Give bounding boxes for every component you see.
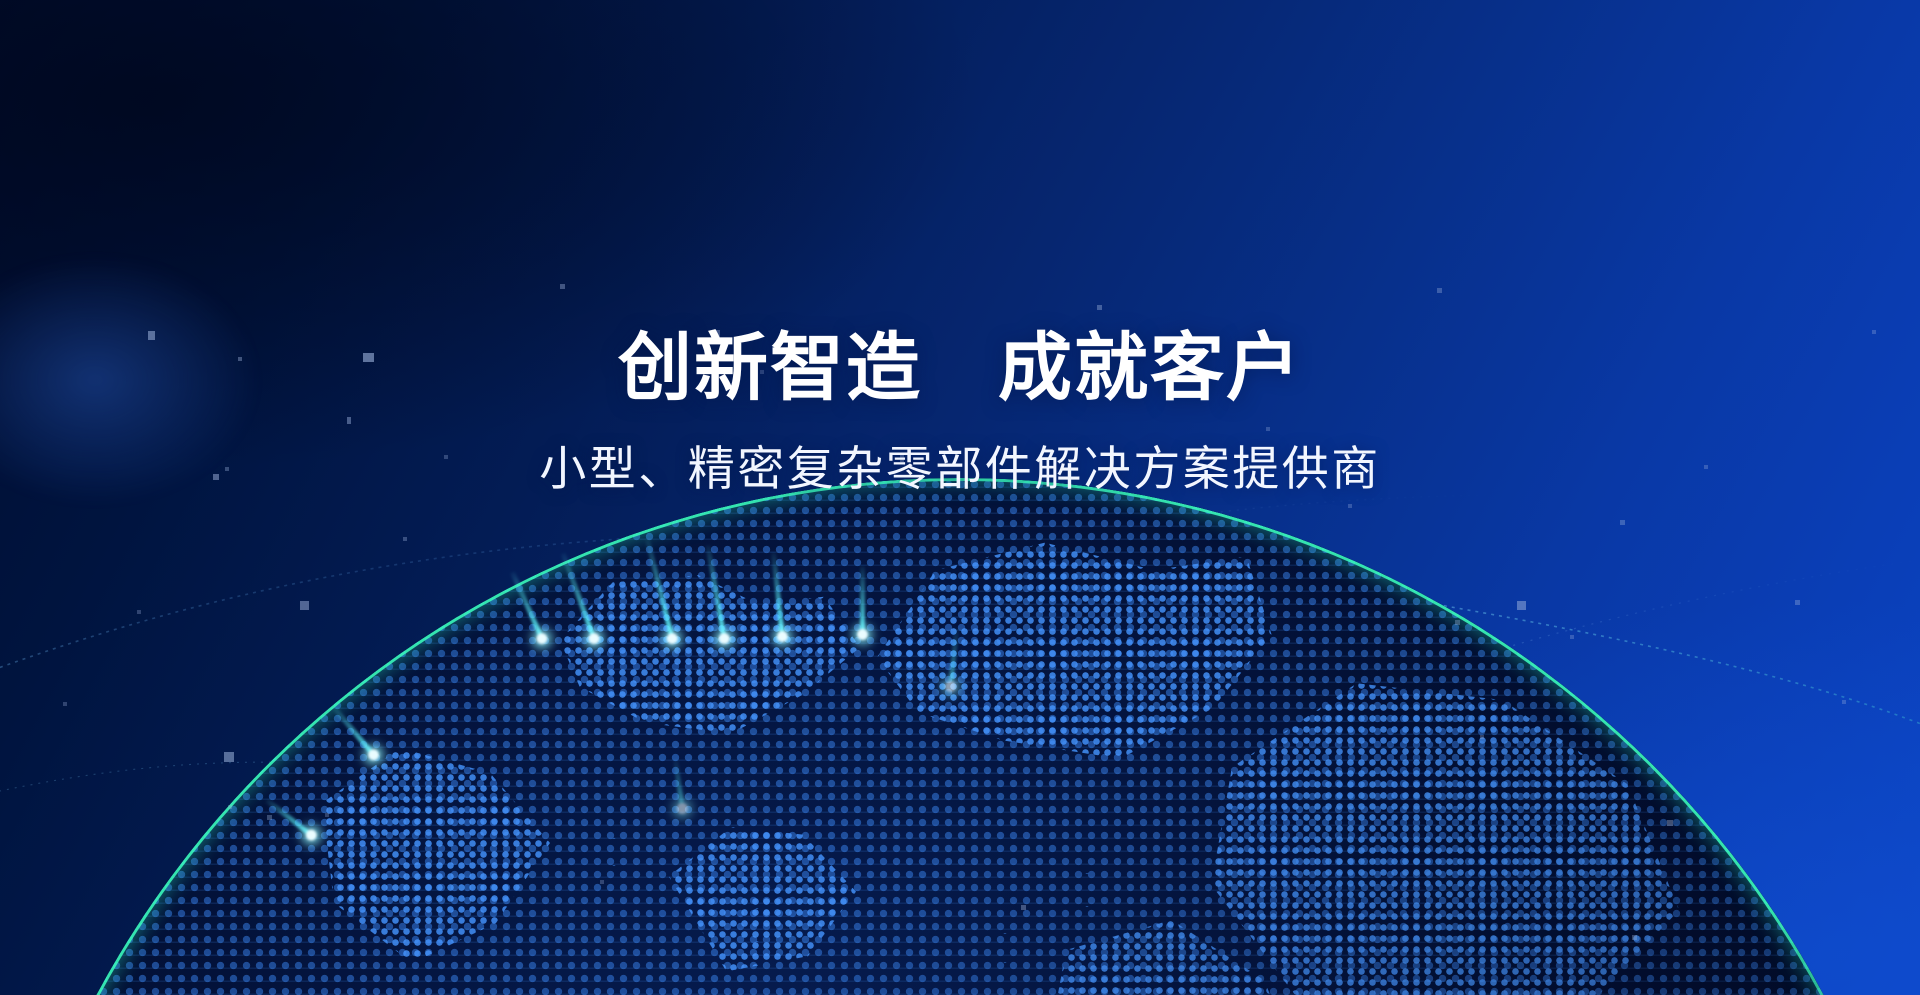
particle [63, 702, 67, 706]
particle [1620, 520, 1625, 525]
particle [325, 813, 329, 817]
particle [1455, 620, 1460, 625]
particle [600, 880, 604, 884]
particle [300, 601, 309, 610]
particle [560, 284, 565, 289]
hero-copy: 创新智造 成就客户 小型、精密复杂零部件解决方案提供商 [0, 330, 1920, 495]
particle [403, 537, 407, 541]
particle [224, 752, 234, 762]
particle [267, 815, 272, 820]
particle [1667, 820, 1673, 826]
particle [1570, 635, 1574, 639]
page-title: 创新智造 成就客户 [0, 330, 1920, 407]
particle [1097, 305, 1102, 310]
particle [1480, 735, 1484, 739]
particle [1795, 600, 1800, 605]
particle [1517, 601, 1526, 610]
particle [1632, 935, 1637, 940]
page-subtitle: 小型、精密复杂零部件解决方案提供商 [0, 443, 1920, 495]
particle [1842, 700, 1846, 704]
particle [1348, 504, 1352, 508]
particle [228, 805, 232, 809]
particle [1437, 288, 1442, 293]
particle [1021, 905, 1026, 910]
hero-banner: 创新智造 成就客户 小型、精密复杂零部件解决方案提供商 [0, 0, 1920, 995]
particle [137, 610, 141, 614]
square-star-particles [0, 0, 1920, 995]
